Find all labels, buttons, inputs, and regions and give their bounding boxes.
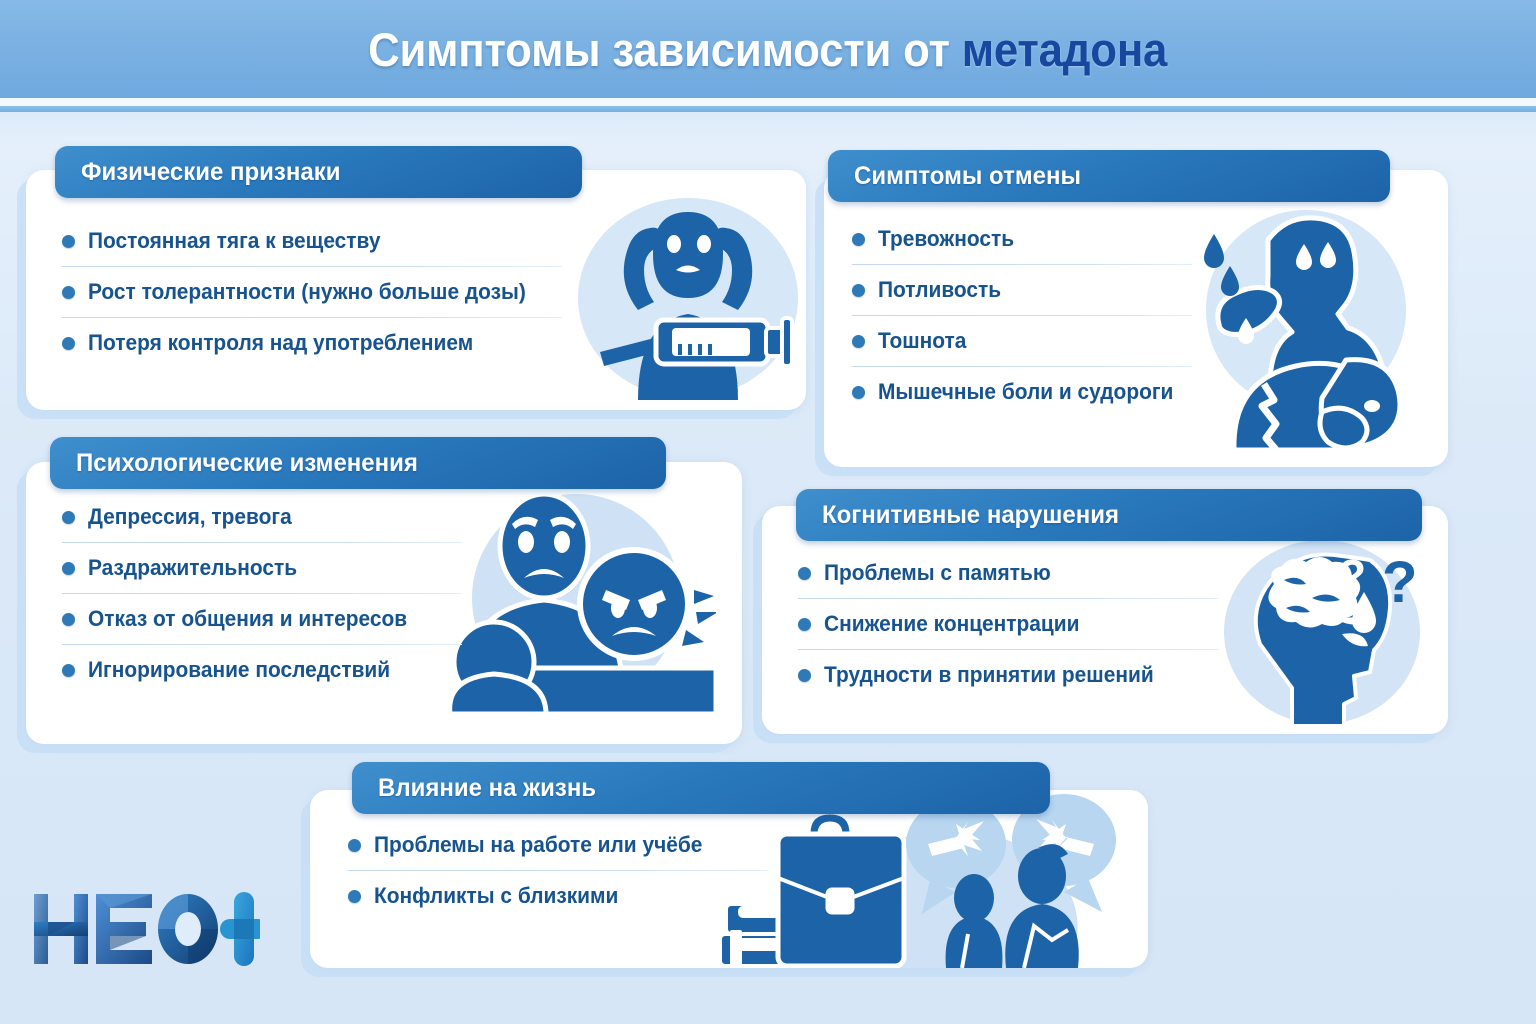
list-item-label: Тревожность [878,226,1014,252]
list-item-label: Трудности в принятии решений [824,662,1154,688]
page-title-accent: метадона [962,23,1167,76]
list-item-label: Постоянная тяга к веществу [88,228,380,254]
list-item: Снижение концентрации [798,611,1218,637]
page-title: Симптомы зависимости от метадона [368,22,1167,77]
list-item-label: Тошнота [878,328,966,354]
page-header: Симптомы зависимости от метадона [0,0,1536,98]
list-item: Тревожность [852,226,1192,252]
list-divider [348,870,768,871]
list-divider [852,264,1192,265]
list-item: Отказ от общения и интересов [62,606,462,632]
card-title-label: Психологические изменения [76,449,418,478]
card-title-label: Физические признаки [81,158,340,187]
list-item-label: Депрессия, тревога [88,504,292,530]
list-item-label: Конфликты с близкими [374,883,618,909]
bullet-icon [62,562,75,575]
card-title-label: Влияние на жизнь [378,774,596,803]
list-divider [798,598,1218,599]
card-title-label: Симптомы отмены [854,162,1081,191]
card-title-label: Когнитивные нарушения [822,501,1119,530]
card-title-cognitive-impairment[interactable]: Когнитивные нарушения [796,489,1422,541]
list-divider [852,315,1192,316]
list-cognitive-impairment: Проблемы с памятью Снижение концентрации… [798,560,1218,688]
list-item: Конфликты с близкими [348,883,768,909]
list-item: Мышечные боли и судороги [852,379,1192,405]
card-title-physical-signs[interactable]: Физические признаки [55,146,582,198]
list-life-impact: Проблемы на работе или учёбе Конфликты с… [348,832,768,909]
bullet-icon [852,335,865,348]
bullet-icon [348,890,361,903]
card-title-life-impact[interactable]: Влияние на жизнь [352,762,1050,814]
bullet-icon [62,286,75,299]
bullet-icon [852,284,865,297]
list-physical-signs: Постоянная тяга к веществу Рост толерант… [62,228,562,356]
list-item-label: Отказ от общения и интересов [88,606,407,632]
list-item-label: Потливость [878,277,1001,303]
list-item-label: Мышечные боли и судороги [878,379,1173,405]
list-withdrawal-symptoms: Тревожность Потливость Тошнота Мышечные … [852,226,1192,405]
list-item: Раздражительность [62,555,462,581]
bullet-icon [798,669,811,682]
list-divider [798,649,1218,650]
bullet-icon [62,511,75,524]
list-item: Потливость [852,277,1192,303]
list-divider [62,266,562,267]
card-title-withdrawal-symptoms[interactable]: Симптомы отмены [828,150,1390,202]
list-item-label: Игнорирование последствий [88,657,390,683]
bullet-icon [62,613,75,626]
list-item: Проблемы на работе или учёбе [348,832,768,858]
bullet-icon [62,337,75,350]
list-divider [62,542,462,543]
bullet-icon [852,233,865,246]
header-divider-white [0,98,1536,106]
bullet-icon [348,839,361,852]
list-item: Тошнота [852,328,1192,354]
neo-plus-logo [30,880,260,976]
list-divider [62,317,562,318]
list-psychological-changes: Депрессия, тревога Раздражительность Отк… [62,504,462,683]
list-item: Потеря контроля над употреблением [62,330,562,356]
list-item: Игнорирование последствий [62,657,462,683]
list-item: Проблемы с памятью [798,560,1218,586]
list-item-label: Проблемы с памятью [824,560,1051,586]
card-title-psychological-changes[interactable]: Психологические изменения [50,437,666,489]
list-item: Рост толерантности (нужно больше дозы) [62,279,562,305]
list-divider [852,366,1192,367]
bullet-icon [798,567,811,580]
list-item: Депрессия, тревога [62,504,462,530]
list-item-label: Рост толерантности (нужно больше дозы) [88,279,526,305]
list-item: Постоянная тяга к веществу [62,228,562,254]
list-item-label: Проблемы на работе или учёбе [374,832,702,858]
list-item-label: Раздражительность [88,555,297,581]
bullet-icon [798,618,811,631]
page-title-main: Симптомы зависимости от [368,23,962,76]
list-item: Трудности в принятии решений [798,662,1218,688]
bullet-icon [852,386,865,399]
list-divider [62,644,462,645]
bullet-icon [62,235,75,248]
infographic-page: Симптомы зависимости от метадона Физичес… [0,0,1536,1024]
bullet-icon [62,664,75,677]
list-item-label: Потеря контроля над употреблением [88,330,473,356]
list-item-label: Снижение концентрации [824,611,1079,637]
list-divider [62,593,462,594]
header-fade [0,112,1536,140]
